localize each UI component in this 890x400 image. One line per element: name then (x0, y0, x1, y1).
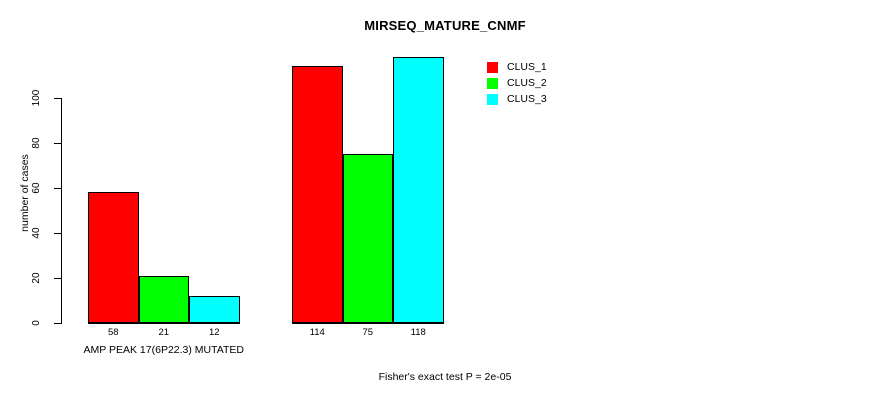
bar-value-label: 114 (292, 327, 343, 338)
y-axis-tick-label: 0 (20, 317, 50, 329)
bar-clus_2-group2[interactable] (343, 154, 394, 323)
y-axis-tick-mark (54, 233, 61, 234)
y-axis-tick-label: 20 (20, 272, 50, 284)
y-axis-tick-label-text: 20 (32, 265, 42, 291)
legend-color-swatch (487, 94, 498, 105)
bar-value-label: 118 (393, 327, 444, 338)
bar-clus_1-group2[interactable] (292, 66, 343, 323)
x-axis-group-title: AMP PEAK 17(6P22.3) MUTATED (58, 344, 270, 356)
y-axis-tick-label-text: 80 (32, 130, 42, 156)
y-axis-tick-mark (54, 143, 61, 144)
y-axis-tick-label-text: 60 (32, 175, 42, 201)
group-baseline (88, 323, 240, 324)
y-axis-title: number of cases (19, 123, 31, 263)
bar-clus_3-group2[interactable] (393, 57, 444, 323)
legend-color-swatch (487, 78, 498, 89)
y-axis-tick-mark (54, 278, 61, 279)
y-axis-tick-label-text: 40 (32, 220, 42, 246)
y-axis-tick-mark (54, 188, 61, 189)
bar-clus_3-group1[interactable] (189, 296, 240, 323)
statistical-test-annotation: Fisher's exact test P = 2e-05 (0, 371, 890, 383)
y-axis-tick-label-text: 0 (32, 310, 42, 336)
chart-title: MIRSEQ_MATURE_CNMF (0, 18, 890, 33)
legend-item-label: CLUS_3 (507, 92, 547, 106)
y-axis-line (61, 98, 62, 324)
legend-item-label: CLUS_1 (507, 60, 547, 74)
legend-color-swatch (487, 62, 498, 73)
bar-value-label: 21 (139, 327, 190, 338)
bar-value-label: 75 (343, 327, 394, 338)
legend-item-label: CLUS_2 (507, 76, 547, 90)
group-baseline (292, 323, 444, 324)
chart-plot-area: MIRSEQ_MATURE_CNMF 100806040200 number o… (0, 0, 890, 400)
bar-clus_1-group1[interactable] (88, 192, 139, 323)
y-axis-tick-label-text: 100 (32, 85, 42, 111)
y-axis-tick-mark (54, 323, 61, 324)
bar-value-label: 58 (88, 327, 139, 338)
bar-value-label: 12 (189, 327, 240, 338)
y-axis-tick-label: 100 (20, 92, 50, 104)
y-axis-tick-mark (54, 98, 61, 99)
bar-clus_2-group1[interactable] (139, 276, 190, 323)
